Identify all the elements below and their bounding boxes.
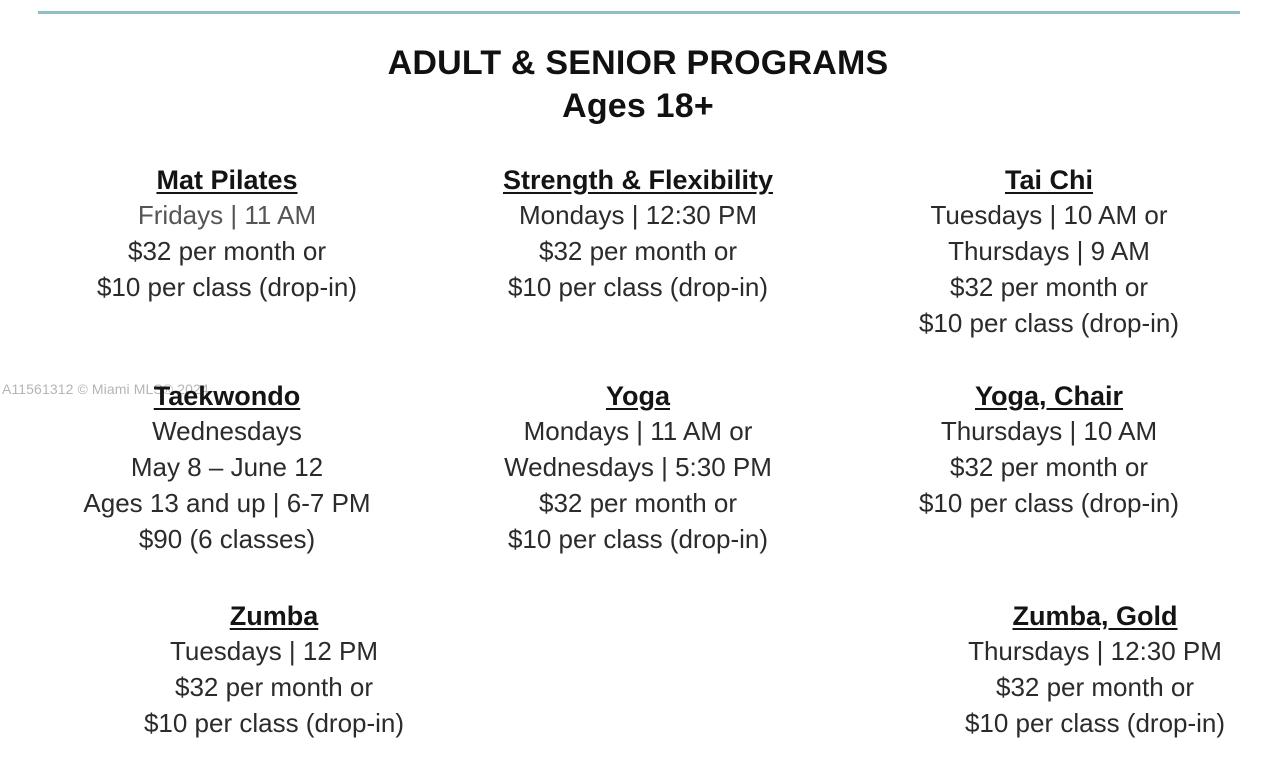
- program-detail: Mondays | 11 AM or: [454, 413, 822, 449]
- program-detail: Thursdays | 12:30 PM: [914, 633, 1276, 669]
- program-detail: Tuesdays | 10 AM or: [822, 197, 1276, 233]
- program-title: Strength & Flexibility: [454, 163, 822, 197]
- program-detail: Thursdays | 9 AM: [822, 233, 1276, 269]
- program-title: Yoga, Chair: [822, 379, 1276, 413]
- program-card-tai-chi: Tai Chi Tuesdays | 10 AM or Thursdays | …: [822, 163, 1276, 379]
- program-detail: Thursdays | 10 AM: [822, 413, 1276, 449]
- program-title: Tai Chi: [822, 163, 1276, 197]
- program-detail: $32 per month or: [454, 485, 822, 521]
- program-title: Zumba: [0, 599, 548, 633]
- program-detail: May 8 – June 12: [0, 449, 454, 485]
- program-detail: $32 per month or: [822, 269, 1276, 305]
- program-title: Zumba, Gold: [914, 599, 1276, 633]
- program-detail: $10 per class (drop-in): [822, 485, 1276, 521]
- program-detail: $10 per class (drop-in): [0, 705, 548, 741]
- program-detail: $32 per month or: [454, 233, 822, 269]
- program-detail: $32 per month or: [914, 669, 1276, 705]
- program-card-zumba-gold: Zumba, Gold Thursdays | 12:30 PM $32 per…: [914, 599, 1276, 759]
- program-detail: Mondays | 12:30 PM: [454, 197, 822, 233]
- program-card-yoga: Yoga Mondays | 11 AM or Wednesdays | 5:3…: [454, 379, 822, 599]
- top-divider: [0, 0, 1276, 22]
- program-card-taekwondo: Taekwondo Wednesdays May 8 – June 12 Age…: [0, 379, 454, 599]
- title-line-2: Ages 18+: [0, 85, 1276, 128]
- program-card-yoga-chair: Yoga, Chair Thursdays | 10 AM $32 per mo…: [822, 379, 1276, 599]
- program-detail: Fridays | 11 AM: [0, 197, 454, 233]
- program-detail: $10 per class (drop-in): [454, 521, 822, 557]
- program-title: Mat Pilates: [0, 163, 454, 197]
- program-detail: $90 (6 classes): [0, 521, 454, 557]
- program-detail: $10 per class (drop-in): [0, 269, 454, 305]
- program-row-3: Zumba Tuesdays | 12 PM $32 per month or …: [0, 599, 1276, 759]
- program-card-zumba: Zumba Tuesdays | 12 PM $32 per month or …: [0, 599, 548, 759]
- program-detail: Wednesdays | 5:30 PM: [454, 449, 822, 485]
- program-detail: $32 per month or: [822, 449, 1276, 485]
- program-title: Taekwondo: [0, 379, 454, 413]
- program-row-1: Mat Pilates Fridays | 11 AM $32 per mont…: [0, 163, 1276, 379]
- program-detail: Tuesdays | 12 PM: [0, 633, 548, 669]
- program-card-mat-pilates: Mat Pilates Fridays | 11 AM $32 per mont…: [0, 163, 454, 379]
- program-detail: Ages 13 and up | 6-7 PM: [0, 485, 454, 521]
- program-detail: $32 per month or: [0, 669, 548, 705]
- program-detail: $10 per class (drop-in): [454, 269, 822, 305]
- accent-rule: [38, 11, 1240, 14]
- program-detail: Wednesdays: [0, 413, 454, 449]
- program-title: Yoga: [454, 379, 822, 413]
- page-title: ADULT & SENIOR PROGRAMS Ages 18+: [0, 42, 1276, 128]
- program-row-2: Taekwondo Wednesdays May 8 – June 12 Age…: [0, 379, 1276, 599]
- program-card-strength-flexibility: Strength & Flexibility Mondays | 12:30 P…: [454, 163, 822, 379]
- title-line-1: ADULT & SENIOR PROGRAMS: [0, 42, 1276, 85]
- program-detail: $10 per class (drop-in): [914, 705, 1276, 741]
- program-grid: Mat Pilates Fridays | 11 AM $32 per mont…: [0, 163, 1276, 759]
- program-detail: $10 per class (drop-in): [822, 305, 1276, 341]
- program-detail: $32 per month or: [0, 233, 454, 269]
